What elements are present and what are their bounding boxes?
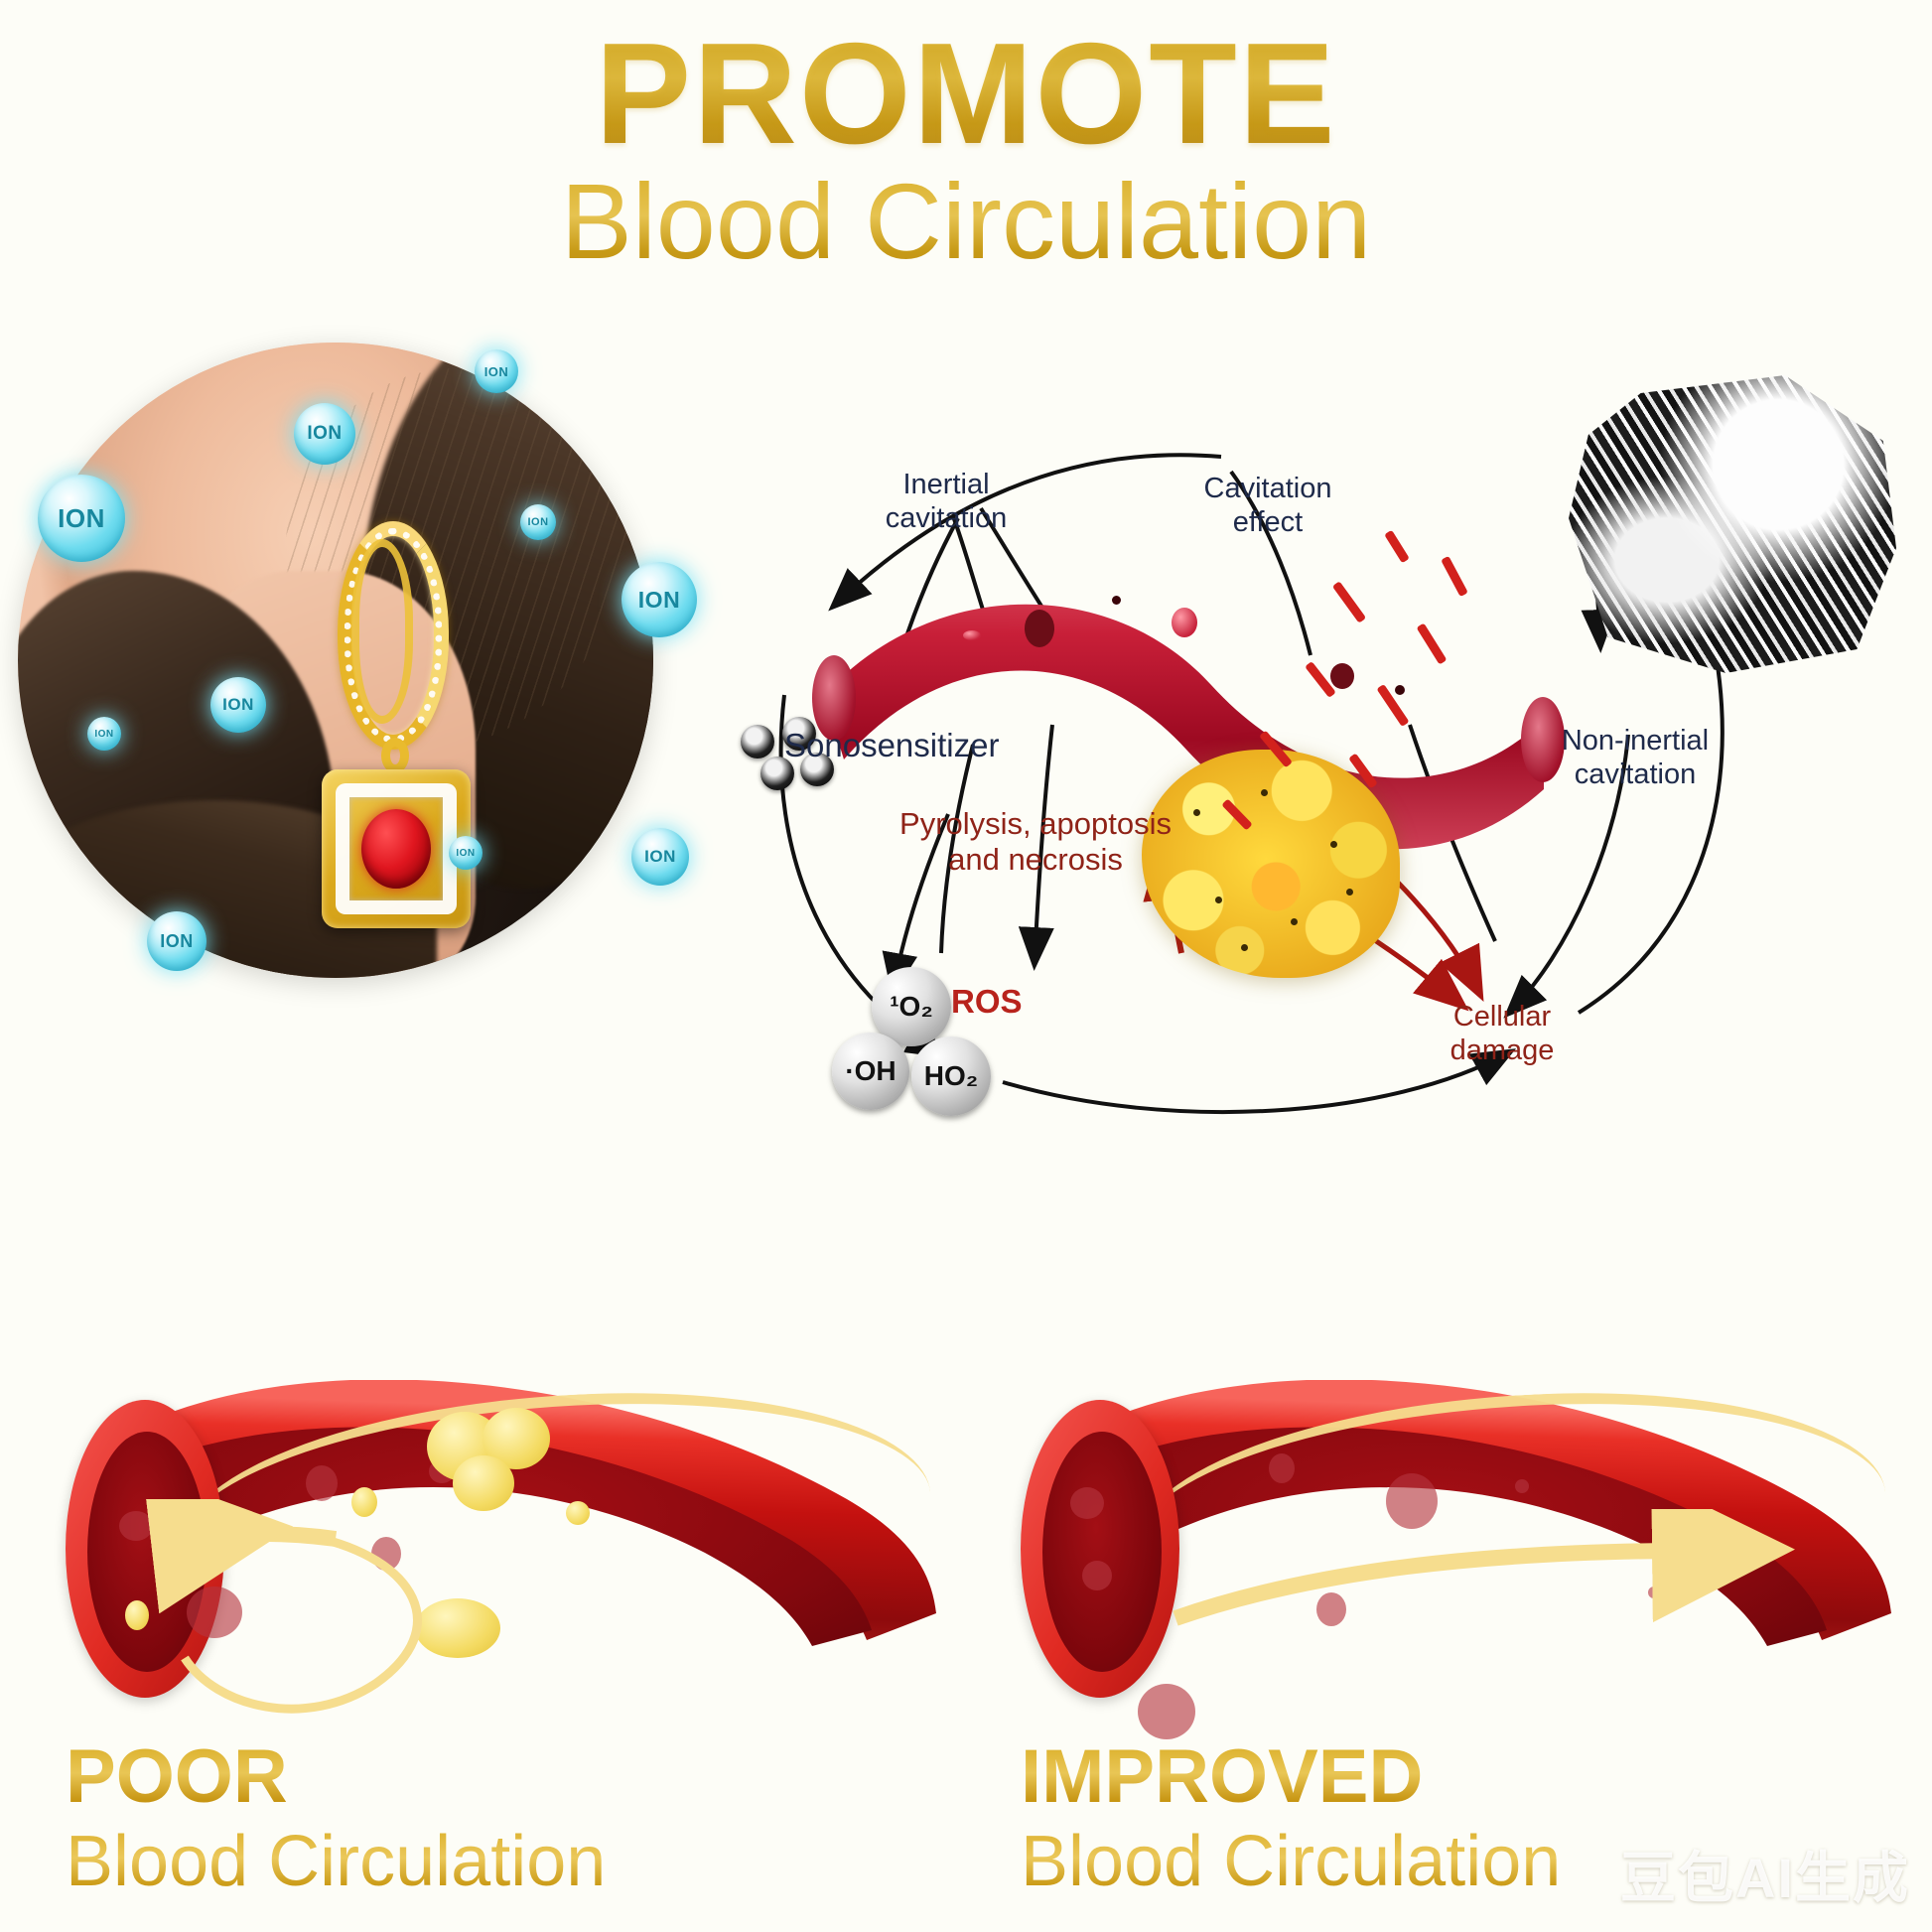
ion-bubble: ION — [631, 828, 689, 886]
page-title: PROMOTE — [0, 18, 1932, 169]
connector-link — [381, 738, 409, 773]
poster-header: PROMOTE Blood Circulation — [0, 18, 1932, 281]
vessel-improved — [1013, 1370, 1886, 1727]
panel-poor-circulation: POOR Blood Circulation — [48, 1370, 941, 1926]
poster-canvas: PROMOTE Blood Circulation IONIONIONIONIO… — [0, 0, 1932, 1932]
label-non-inertial-cavitation: Non-inertialcavitation — [1521, 725, 1749, 791]
ion-bubble: ION — [38, 475, 125, 562]
ion-bubble: ION — [147, 911, 207, 971]
ion-bubble: ION — [449, 836, 483, 870]
label-inertial-cavitation: Inertialcavitation — [842, 469, 1050, 535]
flow-arrow-poor — [127, 1499, 544, 1757]
plaque-deposit — [566, 1501, 590, 1525]
ion-bubble: ION — [475, 349, 518, 393]
label-cellular-damage: Cellulardamage — [1398, 1001, 1606, 1067]
caption-poor-title: POOR — [66, 1737, 606, 1817]
vessel-cell — [963, 630, 981, 640]
gold-hoop-earring — [316, 521, 475, 938]
ion-bubble: ION — [621, 562, 697, 637]
vessel-poor — [58, 1370, 931, 1727]
label-ros: ROS — [951, 983, 1060, 1021]
vessel-cell — [1330, 663, 1354, 689]
ruby-gemstone — [361, 809, 431, 889]
caption-improved-title: IMPROVED — [1021, 1737, 1561, 1817]
label-sonosensitizer: Sonosensitizer — [784, 727, 1052, 764]
page-subtitle: Blood Circulation — [0, 163, 1932, 281]
vessel-cross-section-lumen — [1042, 1432, 1162, 1672]
label-pyrolysis-apoptosis-necrosis: Pyrolysis, apoptosisand necrosis — [872, 806, 1199, 878]
ion-bubble: ION — [210, 677, 266, 733]
hoop-inner-band — [351, 539, 413, 724]
caption-improved: IMPROVED Blood Circulation — [1021, 1737, 1561, 1903]
ros-sphere-hydroxyl: ·OH — [832, 1033, 909, 1110]
ion-bubble: ION — [87, 717, 121, 751]
ros-sphere-hydroperoxyl: HO₂ — [911, 1036, 991, 1116]
vessel-cell — [1025, 610, 1054, 647]
watermark: 豆包AI生成 — [1620, 1834, 1910, 1914]
ion-bubble: ION — [294, 403, 355, 465]
label-cavitation-effect: Cavitationeffect — [1164, 473, 1372, 539]
ion-bubble: ION — [520, 504, 556, 540]
caption-poor-subtitle: Blood Circulation — [66, 1821, 606, 1903]
caption-improved-subtitle: Blood Circulation — [1021, 1821, 1561, 1903]
vessel-cell — [1112, 596, 1121, 605]
caption-poor: POOR Blood Circulation — [66, 1737, 606, 1903]
germanium-mineral-image — [1569, 375, 1896, 673]
vessel-cell — [1172, 608, 1197, 637]
flow-arrow-improved — [1160, 1509, 1835, 1708]
vessel-cell — [1395, 685, 1405, 695]
